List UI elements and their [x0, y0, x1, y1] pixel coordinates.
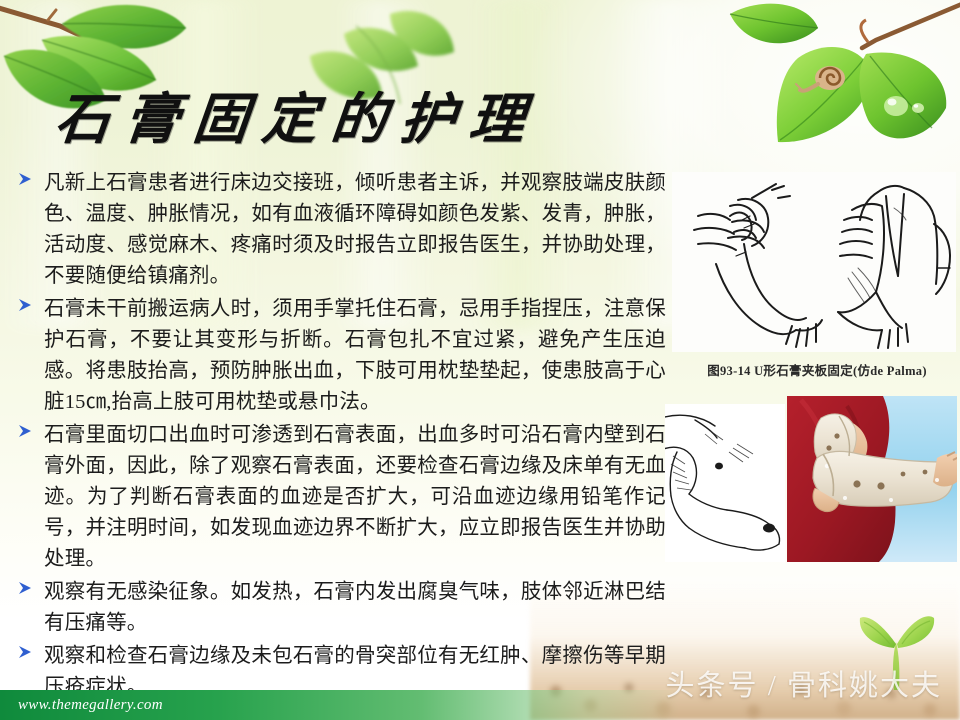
arm-sketch-line-drawing — [665, 404, 785, 562]
figure-caption: 图93-14 U形石膏夹板固定(仿de Palma) — [678, 360, 956, 379]
bullet-list: 凡新上石膏患者进行床边交接班，倾听患者主诉，并观察肢端皮肤颜色、温度、肿胀情况，… — [14, 168, 666, 705]
list-item-text: 观察有无感染征象。如发热，石膏内发出腐臭气味，肢体邻近淋巴结有压痛等。 — [44, 577, 666, 639]
forearm-cast-figure — [665, 396, 957, 564]
list-item: 石膏未干前搬运病人时，须用手掌托住石膏，忌用手指捏压，注意保护石膏，不要让其变形… — [14, 294, 666, 418]
bullet-arrow-icon — [14, 420, 44, 438]
list-item: 石膏里面切口出血时可渗透到石膏表面，出血多时可沿石膏内壁到石膏外面，因此，除了观… — [14, 420, 666, 575]
arm-brace-photo — [787, 396, 957, 562]
bullet-arrow-icon — [14, 641, 44, 659]
bullet-arrow-icon — [14, 294, 44, 312]
bullet-arrow-icon — [14, 577, 44, 595]
page-title: 石膏固定的护理 — [52, 74, 543, 154]
bullet-arrow-icon — [14, 168, 44, 186]
list-item-text: 石膏里面切口出血时可渗透到石膏表面，出血多时可沿石膏内壁到石膏外面，因此，除了观… — [44, 420, 666, 575]
u-slab-cast-line-drawing — [672, 172, 956, 352]
list-item: 凡新上石膏患者进行床边交接班，倾听患者主诉，并观察肢端皮肤颜色、温度、肿胀情况，… — [14, 168, 666, 292]
leaves-branch-right-icon — [700, 0, 960, 170]
slide-canvas: 石膏固定的护理 凡新上石膏患者进行床边交接班，倾听患者主诉，并观察肢端皮肤颜色、… — [0, 0, 960, 720]
footer-url[interactable]: www.themegallery.com — [18, 697, 163, 714]
list-item-text: 凡新上石膏患者进行床边交接班，倾听患者主诉，并观察肢端皮肤颜色、温度、肿胀情况，… — [44, 168, 666, 292]
watermark-text: 头条号 / 骨科姚大夫 — [665, 662, 942, 704]
list-item: 观察有无感染征象。如发热，石膏内发出腐臭气味，肢体邻近淋巴结有压痛等。 — [14, 577, 666, 639]
list-item-text: 石膏未干前搬运病人时，须用手掌托住石膏，忌用手指捏压，注意保护石膏，不要让其变形… — [44, 294, 666, 418]
